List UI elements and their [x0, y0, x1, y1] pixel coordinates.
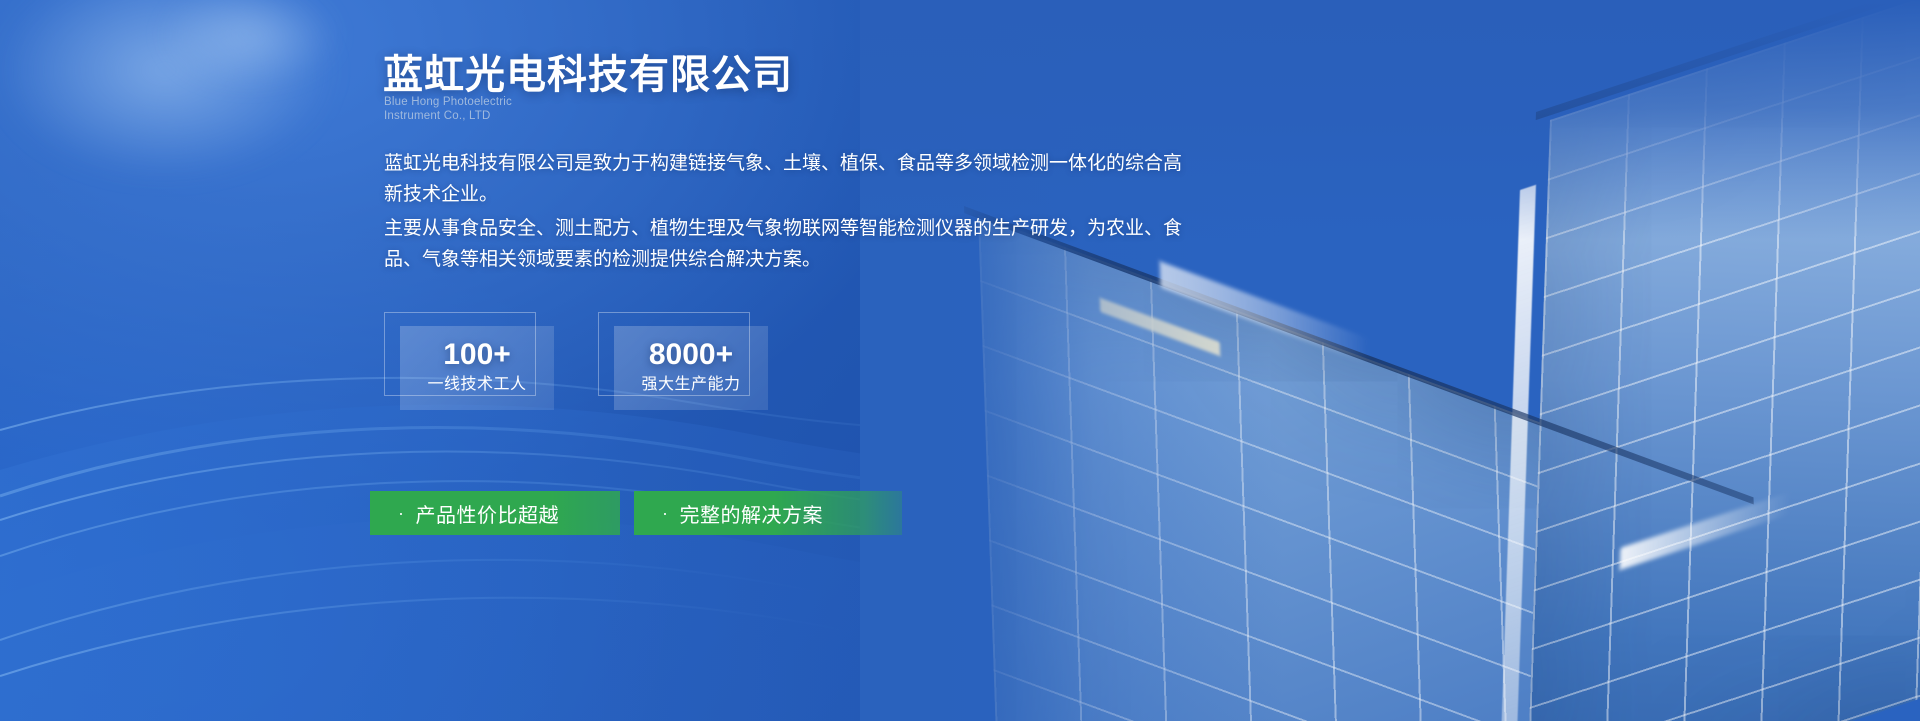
english-name-line-1: Blue Hong Photoelectric — [384, 95, 512, 109]
company-english-name: Blue Hong Photoelectric Instrument Co., … — [384, 95, 512, 123]
hero-banner: 蓝虹光电科技有限公司 Blue Hong Photoelectric Instr… — [0, 0, 1920, 721]
stat-value: 8000+ — [649, 338, 733, 372]
stat-card-panel: 100+ 一线技术工人 — [400, 326, 554, 410]
company-title: 蓝虹光电科技有限公司 — [383, 42, 793, 100]
feature-tags-group: · 产品性价比超越 · 完整的解决方案 — [370, 491, 902, 535]
stat-label: 强大生产能力 — [641, 372, 740, 398]
stat-value: 100+ — [443, 338, 511, 372]
feature-tag-label: 完整的解决方案 — [680, 499, 824, 528]
description-paragraph-1: 蓝虹光电科技有限公司是致力于构建链接气象、土壤、植保、食品等多领域检测一体化的综… — [384, 148, 1184, 210]
feature-tag-price-advantage[interactable]: · 产品性价比超越 — [370, 491, 620, 535]
description-paragraph-2: 主要从事食品安全、测土配方、植物生理及气象物联网等智能检测仪器的生产研发，为农业… — [384, 213, 1184, 275]
stat-card-panel: 8000+ 强大生产能力 — [614, 326, 768, 410]
stat-card: 8000+ 强大生产能力 — [598, 312, 768, 410]
bullet-icon: · — [662, 504, 669, 522]
english-name-line-2: Instrument Co., LTD — [384, 109, 512, 123]
stats-group: 100+ 一线技术工人 8000+ 强大生产能力 — [384, 312, 768, 410]
stat-card: 100+ 一线技术工人 — [384, 312, 554, 410]
stat-label: 一线技术工人 — [427, 372, 526, 398]
feature-tag-label: 产品性价比超越 — [416, 499, 560, 528]
feature-tag-complete-solution[interactable]: · 完整的解决方案 — [634, 491, 902, 535]
bullet-icon: · — [398, 504, 405, 522]
